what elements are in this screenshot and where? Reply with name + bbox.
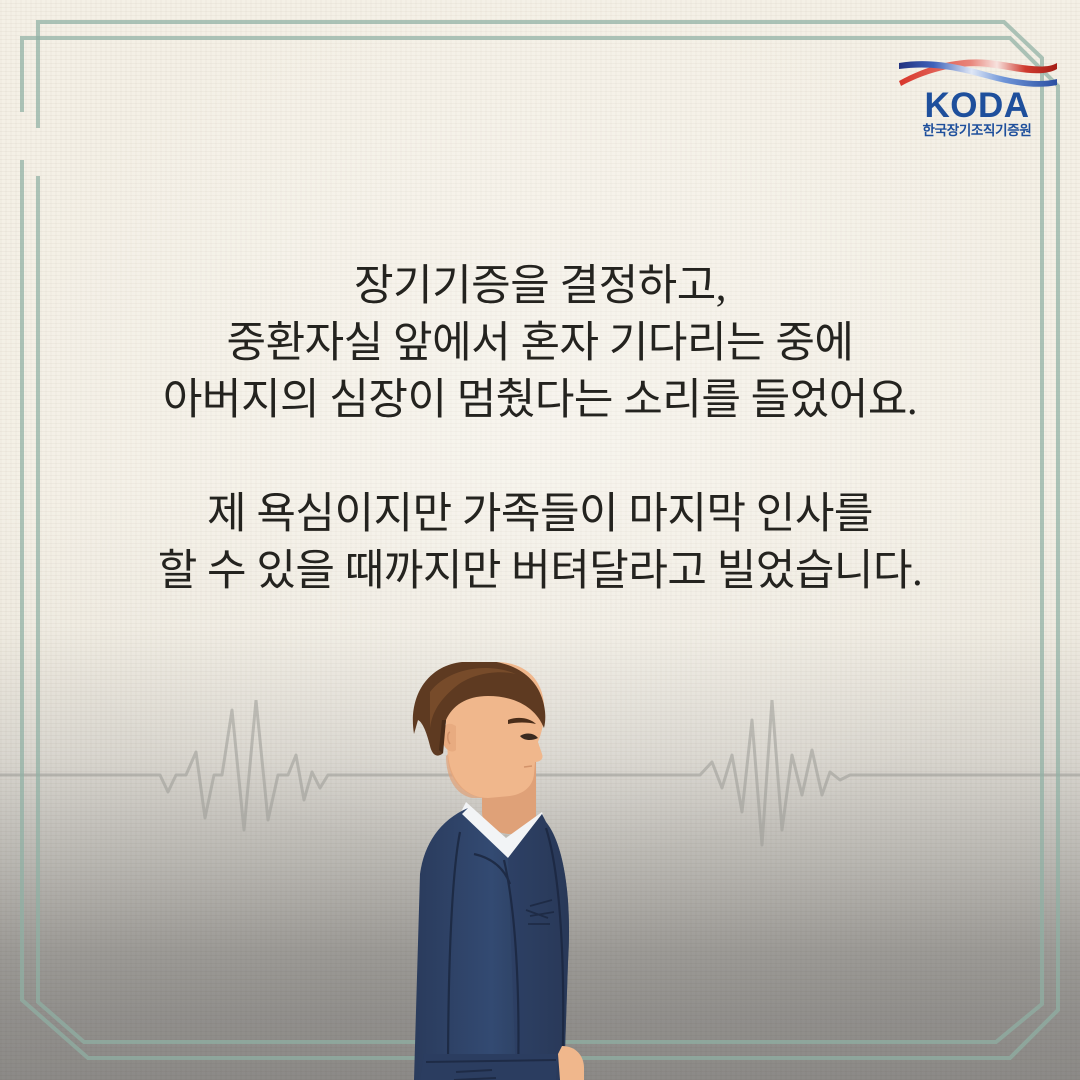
- koda-subtitle: 한국장기조직기증원: [893, 124, 1061, 138]
- message-line: 아버지의 심장이 멈췄다는 소리를 들었어요.: [0, 372, 1080, 429]
- suit-front-panel: [508, 814, 569, 1080]
- koda-ribbon-icon: [893, 55, 1061, 89]
- message-line: 장기기증을 결정하고,: [0, 258, 1080, 315]
- message-line: 제 욕심이지만 가족들이 마지막 인사를: [0, 486, 1080, 543]
- mouth-line: [524, 766, 532, 767]
- koda-logo: KODA 한국장기조직기증원: [893, 55, 1061, 140]
- hand: [558, 1046, 584, 1080]
- poster-card: KODA 한국장기조직기증원 장기기증을 결정하고, 중환자실 앞에서 혼자 기…: [0, 0, 1080, 1080]
- man-in-suit-illustration: [396, 662, 686, 1080]
- message-paragraph-1: 장기기증을 결정하고, 중환자실 앞에서 혼자 기다리는 중에 아버지의 심장이…: [0, 258, 1080, 429]
- koda-wordmark: KODA: [893, 88, 1061, 123]
- trousers: [420, 1054, 558, 1080]
- message-line: 할 수 있을 때까지만 버텨달라고 빌었습니다.: [0, 543, 1080, 600]
- message-line: 중환자실 앞에서 혼자 기다리는 중에: [0, 315, 1080, 372]
- message-text: 장기기증을 결정하고, 중환자실 앞에서 혼자 기다리는 중에 아버지의 심장이…: [0, 258, 1080, 600]
- message-paragraph-2: 제 욕심이지만 가족들이 마지막 인사를 할 수 있을 때까지만 버텨달라고 빌…: [0, 486, 1080, 600]
